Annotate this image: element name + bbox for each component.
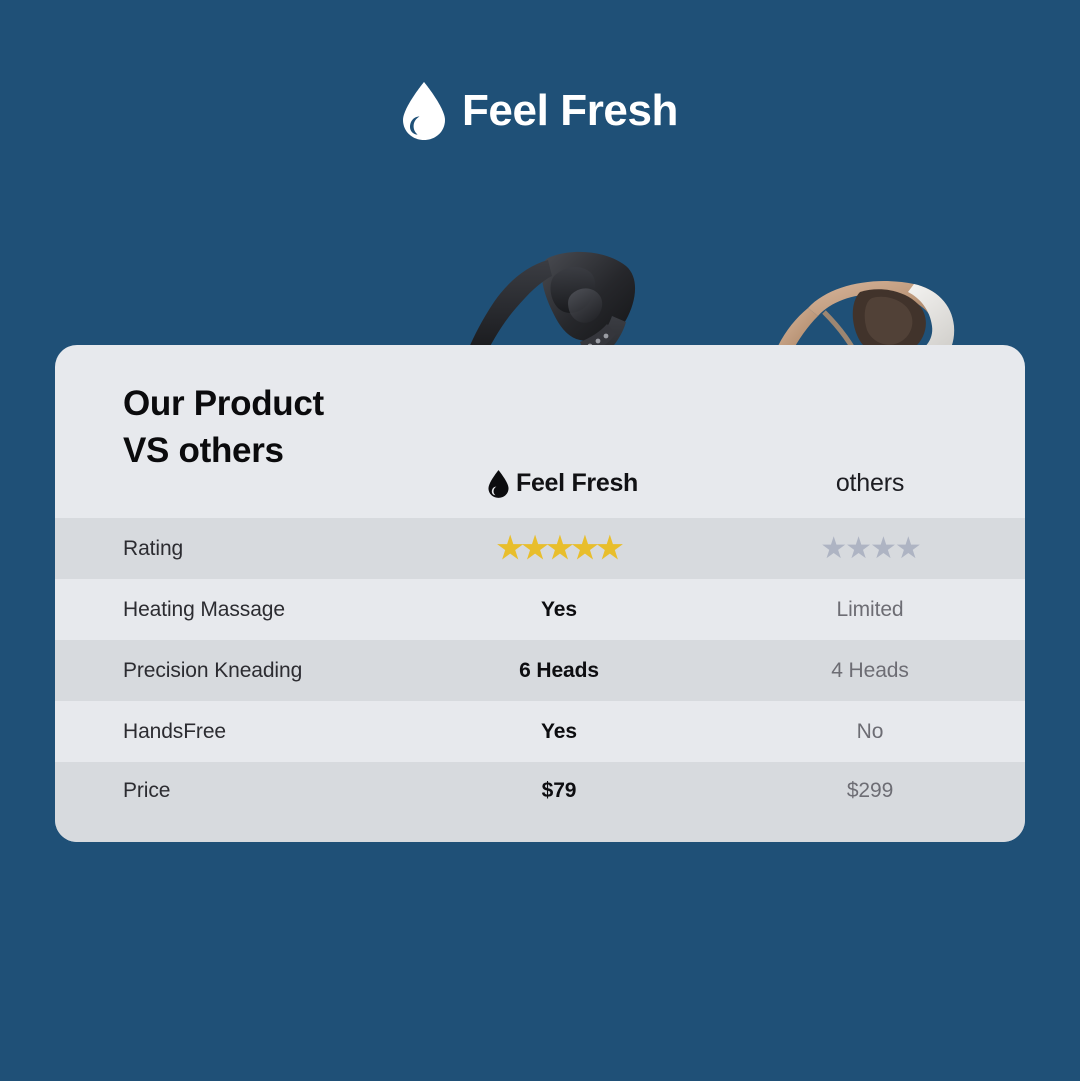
water-drop-icon bbox=[402, 82, 446, 140]
row-value-others: No bbox=[715, 720, 1025, 744]
row-label: Price bbox=[55, 779, 403, 803]
row-value-ours: $79 bbox=[403, 779, 715, 803]
row-value-others: $299 bbox=[715, 779, 1025, 803]
star-icon: ★ bbox=[895, 534, 920, 564]
row-label: Heating Massage bbox=[55, 598, 403, 622]
comparison-infographic: { "brand": { "name": "Feel Fresh", "logo… bbox=[0, 0, 1080, 1081]
table-row: Heating Massage Yes Limited bbox=[55, 579, 1025, 640]
table-row: Rating ★ ★ ★ ★ ★ ★ ★ ★ ★ bbox=[55, 518, 1025, 579]
water-drop-icon bbox=[488, 470, 509, 498]
row-value-ours: 6 Heads bbox=[403, 659, 715, 683]
table-row: HandsFree Yes No bbox=[55, 701, 1025, 762]
column-header-ours: Feel Fresh bbox=[403, 469, 723, 498]
brand-header: Feel Fresh bbox=[0, 82, 1080, 140]
column-header-ours-label: Feel Fresh bbox=[516, 469, 638, 498]
table-row: Precision Kneading 6 Heads 4 Heads bbox=[55, 640, 1025, 701]
rating-stars-others: ★ ★ ★ ★ bbox=[820, 534, 920, 564]
page-title: Our Product VS others bbox=[123, 381, 324, 474]
row-value-ours: Yes bbox=[403, 720, 715, 744]
row-value-others: ★ ★ ★ ★ bbox=[715, 534, 1025, 564]
comparison-card: Our Product VS others Feel Fresh others … bbox=[55, 345, 1025, 842]
row-value-ours: ★ ★ ★ ★ ★ bbox=[403, 534, 715, 564]
card-header: Our Product VS others Feel Fresh others bbox=[55, 345, 1025, 518]
star-icon: ★ bbox=[870, 534, 895, 564]
row-value-others: Limited bbox=[715, 598, 1025, 622]
star-icon: ★ bbox=[522, 534, 547, 564]
star-icon: ★ bbox=[845, 534, 870, 564]
row-label: Rating bbox=[55, 537, 403, 561]
rating-stars-ours: ★ ★ ★ ★ ★ bbox=[497, 534, 622, 564]
star-icon: ★ bbox=[596, 534, 621, 564]
star-icon: ★ bbox=[547, 534, 572, 564]
star-icon: ★ bbox=[497, 534, 522, 564]
row-value-ours: Yes bbox=[403, 598, 715, 622]
star-icon: ★ bbox=[571, 534, 596, 564]
row-value-others: 4 Heads bbox=[715, 659, 1025, 683]
star-icon: ★ bbox=[820, 534, 845, 564]
column-header-others: others bbox=[715, 469, 1025, 498]
table-row: Price $79 $299 bbox=[55, 762, 1025, 842]
row-label: HandsFree bbox=[55, 720, 403, 744]
brand-name: Feel Fresh bbox=[462, 89, 678, 133]
row-label: Precision Kneading bbox=[55, 659, 403, 683]
